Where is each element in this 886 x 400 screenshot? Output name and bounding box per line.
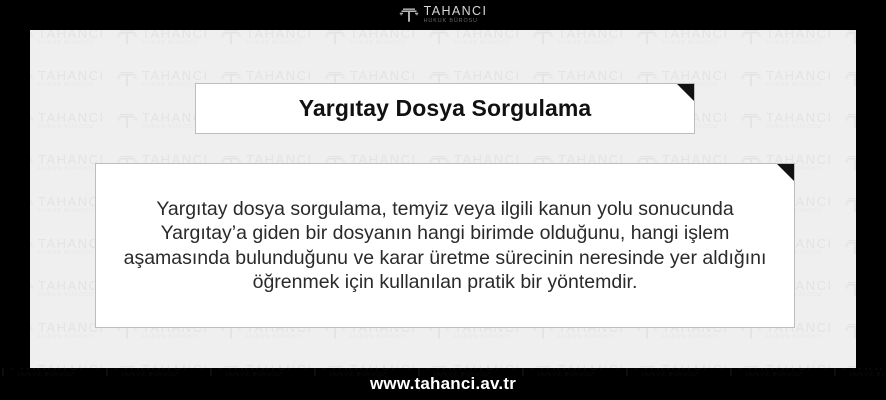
watermark-tile: TAHANCIHUKUK BÜROSU bbox=[30, 194, 105, 216]
page-title: Yargıtay Dosya Sorgulama bbox=[299, 95, 592, 122]
watermark-tile: TAHANCIHUKUK BÜROSU bbox=[844, 194, 856, 216]
website-url: www.tahanci.av.tr bbox=[370, 374, 516, 394]
watermark-subtitle: HUKUK BÜROSU bbox=[766, 83, 833, 89]
watermark-subtitle: HUKUK BÜROSU bbox=[142, 41, 209, 47]
watermark-name: TAHANCI bbox=[746, 368, 813, 372]
watermark-name: TAHANCI bbox=[226, 368, 293, 372]
watermark-subtitle: HUKUK BÜROSU bbox=[538, 373, 605, 379]
watermark-subtitle: HUKUK BÜROSU bbox=[18, 373, 85, 379]
watermark-name: TAHANCI bbox=[662, 69, 729, 82]
watermark-tile: TAHANCIHUKUK BÜROSU bbox=[30, 320, 105, 342]
watermark-name: TAHANCI bbox=[38, 111, 105, 124]
watermark-name: TAHANCI bbox=[350, 69, 417, 82]
pillar-column-icon bbox=[844, 278, 856, 300]
watermark-name: TAHANCI bbox=[850, 368, 886, 372]
pillar-column-icon bbox=[720, 368, 742, 380]
watermark-name: TAHANCI bbox=[558, 69, 625, 82]
pillar-column-icon bbox=[304, 368, 326, 380]
watermark-tile: TAHANCIHUKUK BÜROSU bbox=[324, 30, 417, 48]
watermark-name: TAHANCI bbox=[454, 30, 521, 40]
watermark-tile: TAHANCIHUKUK BÜROSU bbox=[844, 152, 856, 174]
pillar-column-icon bbox=[30, 68, 34, 90]
watermark-tile: TAHANCIHUKUK BÜROSU bbox=[30, 152, 105, 174]
watermark-subtitle: HUKUK BÜROSU bbox=[766, 41, 833, 47]
watermark-name: TAHANCI bbox=[434, 368, 501, 372]
watermark-tile: TAHANCIHUKUK BÜROSU bbox=[740, 30, 833, 48]
pillar-column-icon bbox=[116, 30, 138, 48]
watermark-subtitle: HUKUK BÜROSU bbox=[642, 373, 709, 379]
pillar-column-icon bbox=[636, 30, 658, 48]
watermark-subtitle: HUKUK BÜROSU bbox=[38, 335, 105, 341]
watermark-subtitle: HUKUK BÜROSU bbox=[766, 335, 833, 341]
pillar-column-icon bbox=[30, 236, 34, 258]
watermark-tile: TAHANCIHUKUK BÜROSU bbox=[844, 68, 856, 90]
watermark-name: TAHANCI bbox=[662, 30, 729, 40]
watermark-tile: TAHANCIHUKUK BÜROSU bbox=[844, 320, 856, 342]
pillar-column-icon bbox=[0, 368, 14, 380]
watermark-subtitle: HUKUK BÜROSU bbox=[38, 125, 105, 131]
watermark-name: TAHANCI bbox=[38, 30, 105, 40]
watermark-name: TAHANCI bbox=[538, 368, 605, 372]
pillar-column-icon bbox=[616, 368, 638, 380]
watermark-tile: TAHANCIHUKUK BÜROSU bbox=[200, 368, 293, 380]
pillar-column-icon bbox=[844, 152, 856, 174]
pillar-column-icon bbox=[96, 368, 118, 380]
watermark-tile: TAHANCIHUKUK BÜROSU bbox=[512, 368, 605, 380]
watermark-tile: TAHANCIHUKUK BÜROSU bbox=[428, 30, 521, 48]
watermark-name: TAHANCI bbox=[18, 368, 85, 372]
pillar-column-icon bbox=[844, 194, 856, 216]
pillar-column-icon bbox=[399, 5, 419, 25]
description-text: Yargıtay dosya sorgulama, temyiz veya il… bbox=[96, 197, 794, 294]
brand-text-block: TAHANCI HUKUK BÜROSU bbox=[424, 5, 488, 24]
watermark-subtitle: HUKUK BÜROSU bbox=[246, 41, 313, 47]
pillar-column-icon bbox=[844, 236, 856, 258]
pillar-column-icon bbox=[116, 110, 138, 132]
watermark-subtitle: HUKUK BÜROSU bbox=[454, 335, 521, 341]
folded-corner-icon bbox=[677, 84, 694, 101]
watermark-tile: TAHANCIHUKUK BÜROSU bbox=[116, 30, 209, 48]
watermark-tile: TAHANCIHUKUK BÜROSU bbox=[740, 68, 833, 90]
pillar-column-icon bbox=[532, 30, 554, 48]
watermark-tile: TAHANCIHUKUK BÜROSU bbox=[30, 68, 105, 90]
watermark-tile: TAHANCIHUKUK BÜROSU bbox=[96, 368, 189, 380]
pillar-column-icon bbox=[844, 320, 856, 342]
poster-canvas: TAHANCI HUKUK BÜROSU TAHANCIHUKUK BÜROSU… bbox=[0, 0, 886, 400]
watermark-name: TAHANCI bbox=[454, 69, 521, 82]
watermark-tile: TAHANCIHUKUK BÜROSU bbox=[220, 30, 313, 48]
watermark-subtitle: HUKUK BÜROSU bbox=[558, 335, 625, 341]
watermark-tile: TAHANCIHUKUK BÜROSU bbox=[844, 278, 856, 300]
watermark-tile: TAHANCIHUKUK BÜROSU bbox=[844, 30, 856, 48]
watermark-tile: TAHANCIHUKUK BÜROSU bbox=[824, 368, 886, 380]
watermark-subtitle: HUKUK BÜROSU bbox=[454, 41, 521, 47]
watermark-name: TAHANCI bbox=[766, 30, 833, 40]
watermark-tile: TAHANCIHUKUK BÜROSU bbox=[844, 236, 856, 258]
footer-bar: TAHANCIHUKUK BÜROSUTAHANCIHUKUK BÜROSUTA… bbox=[0, 368, 886, 400]
watermark-subtitle: HUKUK BÜROSU bbox=[662, 335, 729, 341]
pillar-column-icon bbox=[30, 152, 34, 174]
pillar-column-icon bbox=[30, 194, 34, 216]
watermark-name: TAHANCI bbox=[142, 69, 209, 82]
pillar-column-icon bbox=[30, 278, 34, 300]
watermark-subtitle: HUKUK BÜROSU bbox=[746, 373, 813, 379]
watermark-name: TAHANCI bbox=[246, 69, 313, 82]
pillar-column-icon bbox=[740, 68, 762, 90]
watermark-name: TAHANCI bbox=[642, 368, 709, 372]
watermark-subtitle: HUKUK BÜROSU bbox=[142, 335, 209, 341]
watermark-name: TAHANCI bbox=[330, 368, 397, 372]
description-card: Yargıtay dosya sorgulama, temyiz veya il… bbox=[95, 163, 795, 328]
watermark-tile: TAHANCIHUKUK BÜROSU bbox=[616, 368, 709, 380]
pillar-column-icon bbox=[824, 368, 846, 380]
pillar-column-icon bbox=[324, 30, 346, 48]
watermark-tile: TAHANCIHUKUK BÜROSU bbox=[532, 30, 625, 48]
folded-corner-icon bbox=[777, 164, 794, 181]
watermark-tile: TAHANCIHUKUK BÜROSU bbox=[30, 236, 105, 258]
watermark-subtitle: HUKUK BÜROSU bbox=[122, 373, 189, 379]
watermark-tile: TAHANCIHUKUK BÜROSU bbox=[720, 368, 813, 380]
top-brand-bar: TAHANCI HUKUK BÜROSU bbox=[0, 0, 886, 30]
brand-logo: TAHANCI HUKUK BÜROSU bbox=[399, 5, 488, 25]
watermark-subtitle: HUKUK BÜROSU bbox=[38, 41, 105, 47]
pillar-column-icon bbox=[200, 368, 222, 380]
pillar-column-icon bbox=[844, 110, 856, 132]
watermark-subtitle: HUKUK BÜROSU bbox=[246, 335, 313, 341]
watermark-tile: TAHANCIHUKUK BÜROSU bbox=[30, 278, 105, 300]
brand-name: TAHANCI bbox=[424, 5, 488, 18]
watermark-tile: TAHANCIHUKUK BÜROSU bbox=[30, 110, 105, 132]
watermark-tile: TAHANCIHUKUK BÜROSU bbox=[636, 30, 729, 48]
watermark-name: TAHANCI bbox=[766, 111, 833, 124]
watermark-tile: TAHANCIHUKUK BÜROSU bbox=[30, 30, 105, 48]
pillar-column-icon bbox=[116, 68, 138, 90]
watermark-subtitle: HUKUK BÜROSU bbox=[226, 373, 293, 379]
watermark-subtitle: HUKUK BÜROSU bbox=[38, 83, 105, 89]
title-card: Yargıtay Dosya Sorgulama bbox=[195, 83, 695, 134]
pillar-column-icon bbox=[740, 30, 762, 48]
watermark-tile: TAHANCIHUKUK BÜROSU bbox=[740, 110, 833, 132]
pillar-column-icon bbox=[844, 68, 856, 90]
watermark-subtitle: HUKUK BÜROSU bbox=[766, 125, 833, 131]
pillar-column-icon bbox=[740, 110, 762, 132]
pillar-column-icon bbox=[220, 30, 242, 48]
content-panel: TAHANCIHUKUK BÜROSUTAHANCIHUKUK BÜROSUTA… bbox=[30, 30, 856, 368]
pillar-column-icon bbox=[30, 30, 34, 48]
watermark-name: TAHANCI bbox=[246, 30, 313, 40]
watermark-subtitle: HUKUK BÜROSU bbox=[662, 41, 729, 47]
watermark-subtitle: HUKUK BÜROSU bbox=[350, 41, 417, 47]
brand-subtitle: HUKUK BÜROSU bbox=[424, 19, 478, 24]
watermark-name: TAHANCI bbox=[350, 30, 417, 40]
watermark-name: TAHANCI bbox=[142, 30, 209, 40]
watermark-subtitle: HUKUK BÜROSU bbox=[850, 373, 886, 379]
watermark-tile: TAHANCIHUKUK BÜROSU bbox=[844, 110, 856, 132]
watermark-name: TAHANCI bbox=[766, 69, 833, 82]
watermark-name: TAHANCI bbox=[122, 368, 189, 372]
watermark-name: TAHANCI bbox=[558, 30, 625, 40]
watermark-subtitle: HUKUK BÜROSU bbox=[350, 335, 417, 341]
pillar-column-icon bbox=[30, 110, 34, 132]
watermark-tile: TAHANCIHUKUK BÜROSU bbox=[0, 368, 85, 380]
pillar-column-icon bbox=[428, 30, 450, 48]
pillar-column-icon bbox=[844, 30, 856, 48]
pillar-column-icon bbox=[30, 320, 34, 342]
watermark-subtitle: HUKUK BÜROSU bbox=[558, 41, 625, 47]
watermark-name: TAHANCI bbox=[38, 69, 105, 82]
